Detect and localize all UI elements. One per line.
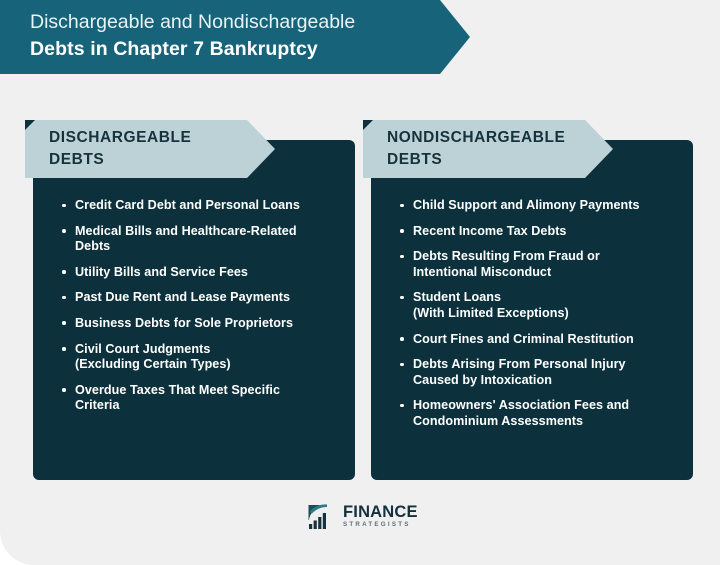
bullet-icon xyxy=(400,363,404,367)
logo-subtitle: STRATEGISTS xyxy=(343,521,418,529)
bullet-icon xyxy=(400,229,404,233)
list-item-line: (Excluding Certain Types) xyxy=(75,357,357,373)
infographic-root: Dischargeable and Nondischargeable Debts… xyxy=(0,0,720,565)
bullet-icon xyxy=(62,229,66,233)
list-item: Homeowners' Association Fees andCondomin… xyxy=(413,398,695,429)
list-item: Overdue Taxes That Meet SpecificCriteria xyxy=(75,383,357,414)
list-dischargeable: Credit Card Debt and Personal Loans Medi… xyxy=(55,198,371,424)
page-title-line-1: Dischargeable and Nondischargeable xyxy=(30,9,450,36)
list-item-line: Utility Bills and Service Fees xyxy=(75,265,357,281)
list-item-line: Medical Bills and Healthcare-Related xyxy=(75,224,357,240)
list-item-line: Civil Court Judgments xyxy=(75,342,357,358)
ribbon-fold-icon xyxy=(363,120,373,130)
list-item: Medical Bills and Healthcare-RelatedDebt… xyxy=(75,224,357,255)
ribbon-label-line-2: DEBTS xyxy=(387,149,602,171)
list-item-line: Business Debts for Sole Proprietors xyxy=(75,316,357,332)
bullet-icon xyxy=(400,337,404,341)
list-item-line: Debts Arising From Personal Injury xyxy=(413,357,695,373)
ribbon-label-line-2: DEBTS xyxy=(49,149,264,171)
list-item-line: Debts Resulting From Fraud or xyxy=(413,249,695,265)
list-item-line: Caused by Intoxication xyxy=(413,373,695,389)
list-item-line: Court Fines and Criminal Restitution xyxy=(413,332,695,348)
bullet-icon xyxy=(62,270,66,274)
list-nondischargeable: Child Support and Alimony Payments Recen… xyxy=(393,198,709,440)
panel-dischargeable: DISCHARGEABLE DEBTS Credit Card Debt and… xyxy=(33,140,355,480)
list-item: Utility Bills and Service Fees xyxy=(75,265,357,281)
list-item: Recent Income Tax Debts xyxy=(413,224,695,240)
brand-logo: FINANCE STRATEGISTS xyxy=(307,500,429,533)
ribbon-label-line-1: DISCHARGEABLE xyxy=(49,127,264,149)
title-banner: Dischargeable and Nondischargeable Debts… xyxy=(0,0,470,74)
list-item-line: Student Loans xyxy=(413,290,695,306)
bullet-icon xyxy=(62,388,66,392)
list-item-line: Overdue Taxes That Meet Specific xyxy=(75,383,357,399)
list-item-line: (With Limited Exceptions) xyxy=(413,306,695,322)
list-item-line: Intentional Misconduct xyxy=(413,265,695,281)
finance-strategists-logo-icon xyxy=(307,502,338,531)
list-item-line: Child Support and Alimony Payments xyxy=(413,198,695,214)
list-item: Student Loans(With Limited Exceptions) xyxy=(413,290,695,321)
ribbon-label-dischargeable: DISCHARGEABLE DEBTS xyxy=(49,127,264,171)
list-item: Debts Arising From Personal InjuryCaused… xyxy=(413,357,695,388)
ribbon-label-nondischargeable: NONDISCHARGEABLE DEBTS xyxy=(387,127,602,171)
bullet-icon xyxy=(62,347,66,351)
list-item: Court Fines and Criminal Restitution xyxy=(413,332,695,348)
panel-nondischargeable: NONDISCHARGEABLE DEBTS Child Support and… xyxy=(371,140,693,480)
bullet-icon xyxy=(62,321,66,325)
bullet-icon xyxy=(400,296,404,300)
list-item-line: Condominium Assessments xyxy=(413,414,695,430)
list-item-line: Recent Income Tax Debts xyxy=(413,224,695,240)
bullet-icon xyxy=(62,296,66,300)
list-item: Past Due Rent and Lease Payments xyxy=(75,290,357,306)
bullet-icon xyxy=(400,204,404,208)
list-item-line: Criteria xyxy=(75,398,357,414)
ribbon-label-line-1: NONDISCHARGEABLE xyxy=(387,127,602,149)
list-item: Child Support and Alimony Payments xyxy=(413,198,695,214)
list-item: Debts Resulting From Fraud orIntentional… xyxy=(413,249,695,280)
list-item-line: Past Due Rent and Lease Payments xyxy=(75,290,357,306)
logo-name: FINANCE xyxy=(343,504,418,521)
list-item: Credit Card Debt and Personal Loans xyxy=(75,198,357,214)
logo-wordmark: FINANCE STRATEGISTS xyxy=(343,504,418,529)
list-item-line: Homeowners' Association Fees and xyxy=(413,398,695,414)
list-item-line: Debts xyxy=(75,239,357,255)
list-item-line: Credit Card Debt and Personal Loans xyxy=(75,198,357,214)
list-item: Civil Court Judgments(Excluding Certain … xyxy=(75,342,357,373)
ribbon-fold-icon xyxy=(25,120,35,130)
bullet-icon xyxy=(400,404,404,408)
title-text-block: Dischargeable and Nondischargeable Debts… xyxy=(30,9,450,63)
bullet-icon xyxy=(400,255,404,259)
page-title-line-2: Debts in Chapter 7 Bankruptcy xyxy=(30,36,450,63)
bullet-icon xyxy=(62,204,66,208)
list-item: Business Debts for Sole Proprietors xyxy=(75,316,357,332)
